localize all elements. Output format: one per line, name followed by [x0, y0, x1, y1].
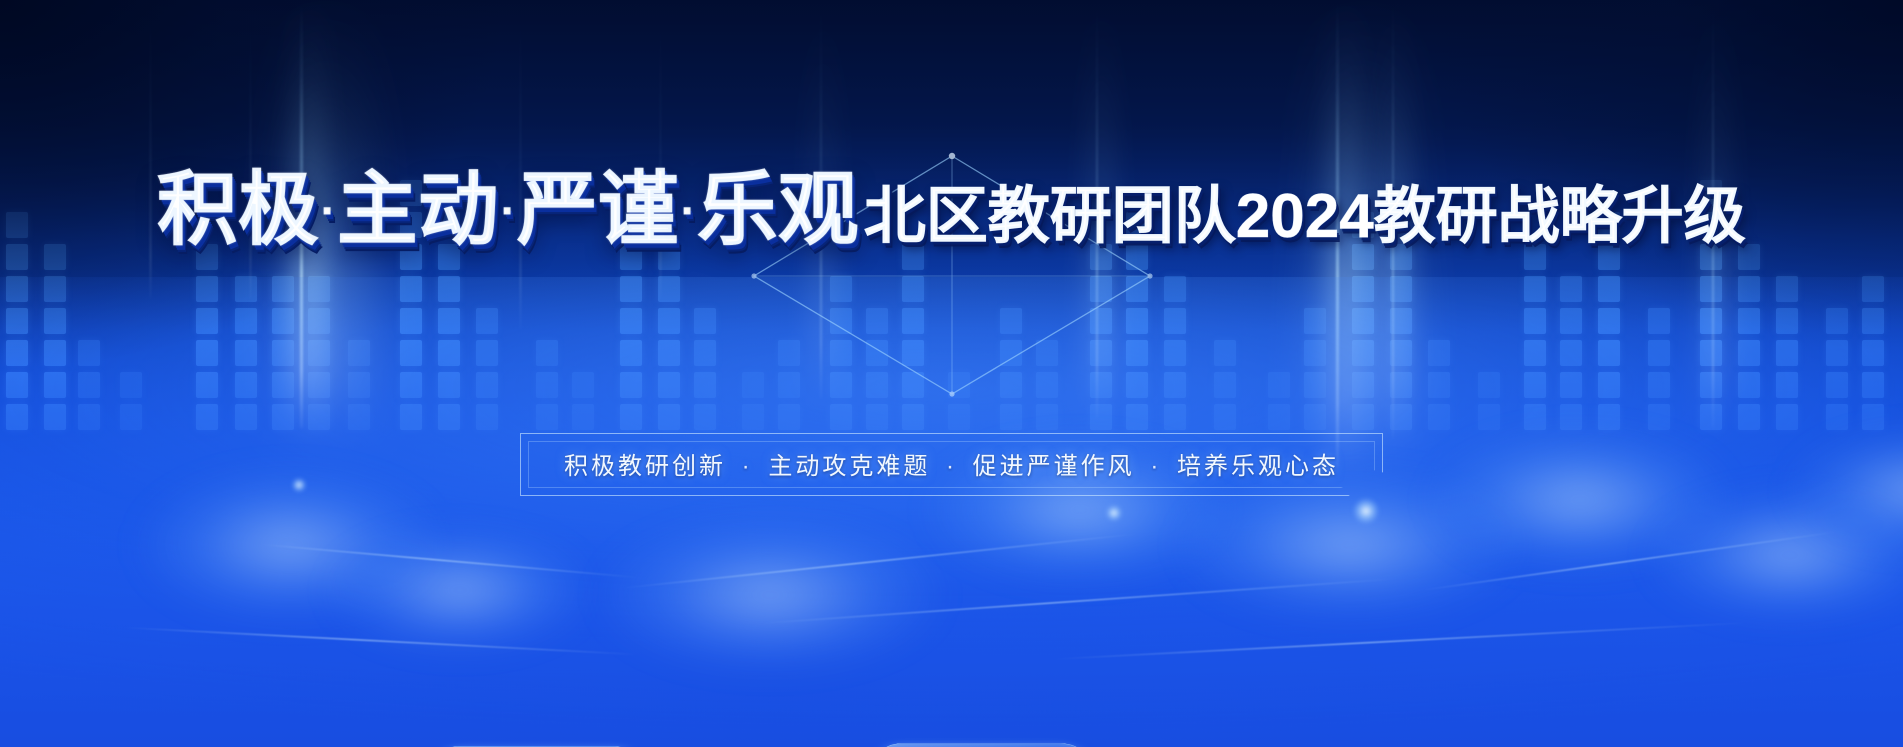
title-word: 严谨	[517, 165, 679, 254]
title-block: 积极·主动·严谨·乐观 北区教研团队2024教研战略升级	[0, 168, 1903, 253]
light-beam	[150, 0, 151, 300]
title-word: 乐观	[697, 165, 859, 254]
tagline-separator-dot: ·	[1135, 453, 1177, 480]
tile-plane	[0, 743, 1903, 747]
glow-dot	[1106, 505, 1122, 521]
title-separator-dot: ·	[499, 187, 517, 234]
title-word: 积极	[157, 165, 319, 254]
page-title: 积极·主动·严谨·乐观	[157, 168, 859, 253]
tagline-item: 积极教研创新	[564, 453, 726, 480]
tagline-text: 积极教研创新 · 主动攻克难题 · 促进严谨作风 · 培养乐观心态	[564, 446, 1339, 481]
tagline-item: 培养乐观心态	[1177, 453, 1339, 480]
light-beam	[250, 0, 251, 300]
tagline-item: 主动攻克难题	[768, 453, 930, 480]
page-subtitle: 北区教研团队2024教研战略升级	[864, 183, 1746, 251]
floor-tile	[864, 743, 1113, 747]
title-separator-dot: ·	[319, 187, 337, 234]
floor-sheen	[330, 530, 590, 650]
light-beam	[660, 0, 661, 300]
title-word: 主动	[337, 165, 499, 254]
title-separator-dot: ·	[679, 187, 697, 234]
tagline-separator-dot: ·	[930, 453, 972, 480]
banner-canvas: 积极·主动·严谨·乐观 北区教研团队2024教研战略升级 积极教研创新 · 主动…	[0, 0, 1903, 747]
tagline-separator-dot: ·	[726, 453, 768, 480]
tagline-frame: 积极教研创新 · 主动攻克难题 · 促进严谨作风 · 培养乐观心态	[520, 433, 1383, 496]
tagline-block: 积极教研创新 · 主动攻克难题 · 促进严谨作风 · 培养乐观心态	[0, 433, 1903, 496]
tagline-item: 促进严谨作风	[973, 453, 1135, 480]
glow-dot	[1353, 498, 1379, 524]
floor-sheen	[600, 520, 940, 670]
